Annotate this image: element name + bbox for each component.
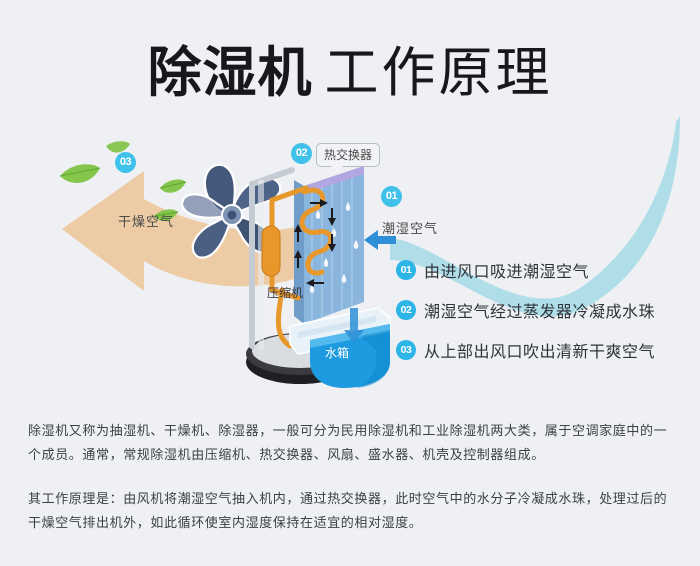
callout-tail [331, 166, 343, 173]
label-dry-air: 干燥空气 [118, 211, 174, 230]
infographic-page: 除湿机工作原理 [0, 0, 700, 566]
paragraph-1: 除湿机又称为抽湿机、干燥机、除湿器，一般可分为民用除湿机和工业除湿机两大类，属于… [28, 420, 676, 468]
page-title-secondary: 工作原理 [325, 41, 553, 104]
label-heat-exchanger: 热交换器 [324, 148, 372, 162]
accumulator [262, 226, 280, 276]
step-badge-02: 02 [396, 300, 416, 320]
step-text-02: 潮湿空气经过蒸发器冷凝成水珠 [424, 298, 655, 322]
list-item: 02 潮湿空气经过蒸发器冷凝成水珠 [396, 298, 686, 322]
page-title: 除湿机工作原理 [0, 28, 700, 107]
list-item: 03 从上部出风口吹出清新干爽空气 [396, 338, 686, 362]
page-title-primary: 除湿机 [148, 41, 313, 104]
label-compressor: 压缩机 [267, 284, 303, 301]
badge-humid-air: 01 [381, 186, 402, 207]
step-text-03: 从上部出风口吹出清新干爽空气 [424, 338, 655, 362]
step-badge-03: 03 [396, 340, 416, 360]
step-badge-01: 01 [396, 260, 416, 280]
callout-heat-exchanger: 热交换器 [316, 143, 380, 167]
step-text-01: 由进风口吸进潮湿空气 [424, 258, 589, 282]
label-humid-air: 潮湿空气 [382, 218, 438, 237]
paragraph-2: 其工作原理是：由风机将潮湿空气抽入机内，通过热交换器，此时空气中的水分子冷凝成水… [28, 488, 676, 536]
dehumidifier-unit [238, 140, 398, 390]
badge-dry-air: 03 [115, 152, 136, 173]
body-copy: 除湿机又称为抽湿机、干燥机、除湿器，一般可分为民用除湿机和工业除湿机两大类，属于… [28, 420, 676, 536]
badge-heat-exchanger: 02 [291, 143, 312, 164]
list-item: 01 由进风口吸进潮湿空气 [396, 258, 686, 282]
steps-list: 01 由进风口吸进潮湿空气 02 潮湿空气经过蒸发器冷凝成水珠 03 从上部出风… [396, 258, 686, 378]
label-water-tank: 水箱 [325, 344, 349, 361]
